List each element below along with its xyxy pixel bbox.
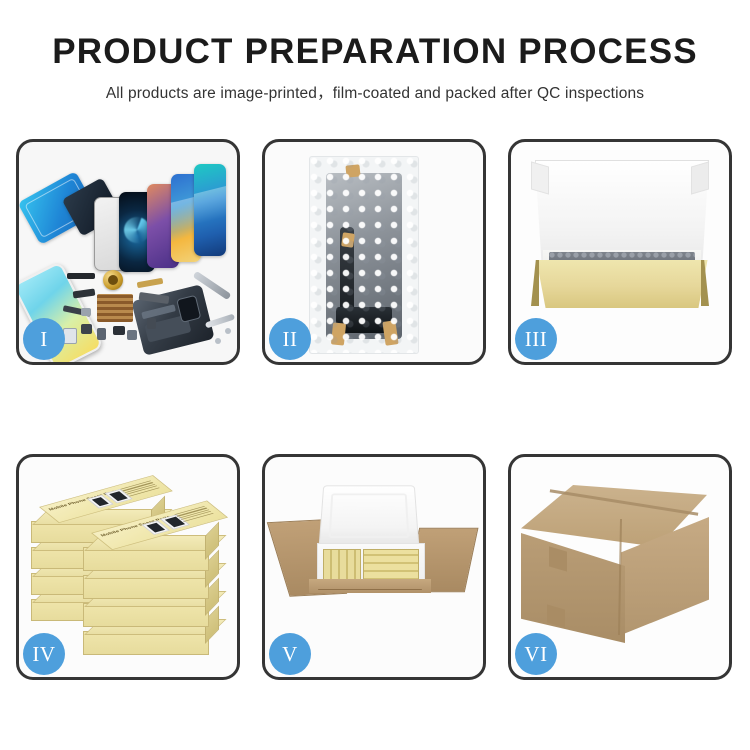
speaker-component: [103, 270, 123, 290]
screw-2: [225, 328, 231, 334]
lid-tab-left: [531, 161, 549, 194]
process-row-top: I II: [16, 139, 734, 365]
screwdriver-tool: [205, 314, 235, 329]
box-front-yellow: [531, 260, 713, 308]
foam-lid: [319, 485, 420, 547]
step-badge-6: VI: [515, 633, 557, 675]
step-badge-4: IV: [23, 633, 65, 675]
sim-tray-part: [63, 328, 77, 344]
stacked-box-front-3: [83, 575, 209, 599]
stacked-box-front-4: [83, 603, 209, 627]
step-badge-1: I: [23, 318, 65, 360]
page-subtitle: All products are image-printed，film-coat…: [0, 81, 750, 103]
product-preparation-infographic: PRODUCT PREPARATION PROCESS All products…: [0, 0, 750, 750]
step-panel-stacked-printed-boxes: Mobile Phone Spare Parts: [16, 454, 240, 680]
small-part-1: [81, 324, 92, 334]
process-row-bottom: Mobile Phone Spare Parts: [16, 454, 734, 680]
stacked-box-front-2: [83, 547, 209, 571]
bubble-highlight-texture: [310, 157, 418, 353]
carton-front-face: [521, 533, 625, 643]
step-panel-bubble-wrapped-screen: II: [262, 139, 486, 365]
lid-tab-right: [691, 161, 709, 194]
step-panel-sealed-shipping-carton: VI: [508, 454, 732, 680]
small-part-4: [127, 330, 137, 340]
small-part-5: [147, 318, 156, 329]
flex-cable-3: [137, 278, 164, 288]
housing-strip: [141, 304, 176, 319]
step-panel-open-flat-box-with-units: III: [508, 139, 732, 365]
flex-cable-1: [73, 289, 96, 299]
small-part-6: [81, 308, 91, 316]
header: PRODUCT PREPARATION PROCESS All products…: [0, 34, 750, 103]
box-stack: Mobile Phone Spare Parts: [27, 481, 231, 659]
step-panel-phone-screens-and-parts: I: [16, 139, 240, 365]
page-title: PRODUCT PREPARATION PROCESS: [0, 34, 750, 71]
step-panel-carton-with-foam-liner: V: [262, 454, 486, 680]
step-badge-3: III: [515, 318, 557, 360]
stacked-box-front-5: [83, 631, 209, 655]
step-badge-2: II: [269, 318, 311, 360]
small-part-2: [97, 328, 106, 340]
battery-connector-component: [67, 273, 95, 279]
phone-display-teal-wallpaper: [194, 164, 226, 256]
step-badge-5: V: [269, 633, 311, 675]
screw-1: [215, 338, 221, 344]
carton-body: [311, 589, 429, 652]
camera-module: [176, 295, 201, 323]
small-part-3: [113, 326, 125, 335]
process-grid: I II: [16, 139, 734, 680]
box-corner-left: [531, 260, 539, 306]
logic-board-component: [97, 294, 133, 322]
bubble-wrap-package: [309, 156, 419, 354]
